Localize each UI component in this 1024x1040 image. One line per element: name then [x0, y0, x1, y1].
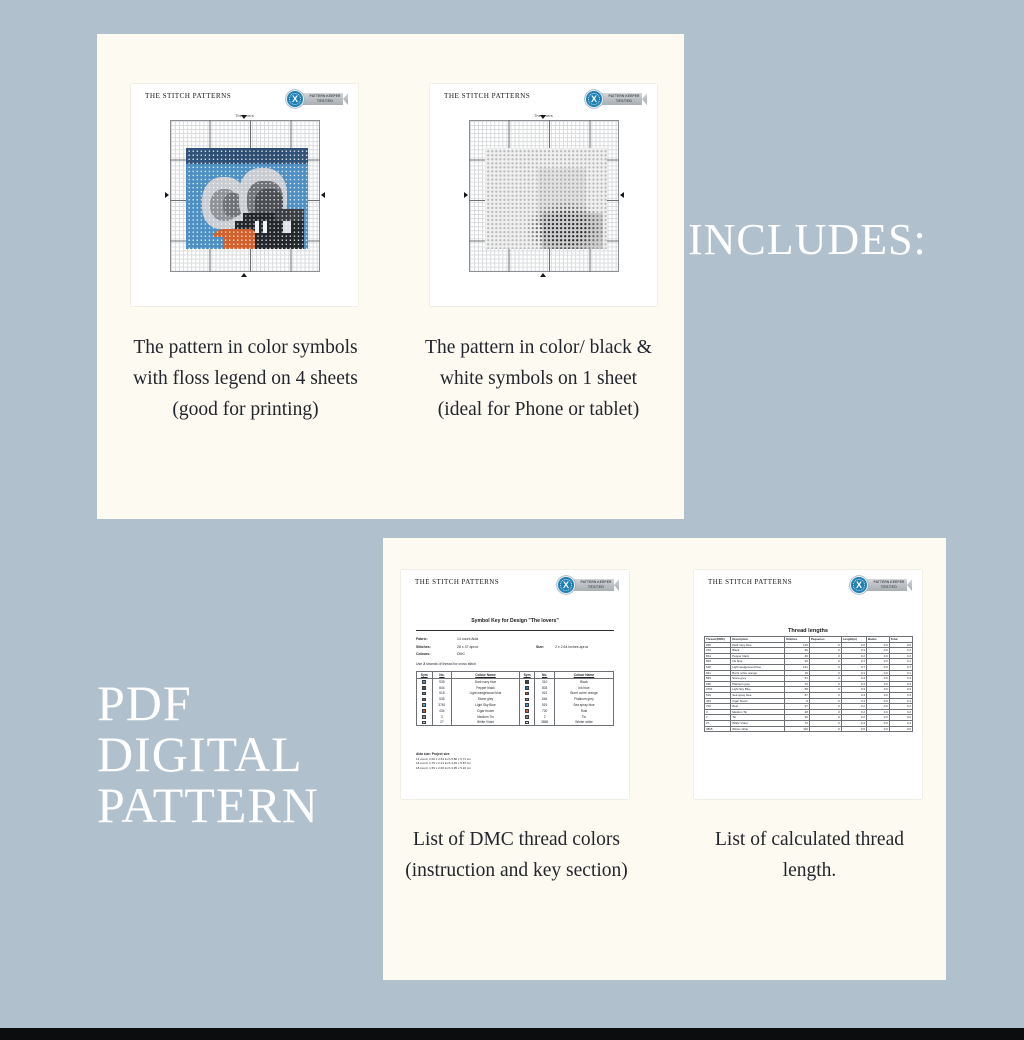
- thread-number: 3865: [705, 726, 731, 732]
- sheet-header: THE STITCH PATTERNS PATTERN KEEPER TESTE…: [131, 84, 358, 110]
- badge-line-1: PATTERN KEEPER: [868, 580, 910, 585]
- poster-canvas: THE STITCH PATTERNS PATTERN KEEPER TESTE…: [0, 0, 1024, 1040]
- meta-row: Colours:DMC: [416, 651, 615, 659]
- colour-name-a: White Violet: [452, 719, 520, 725]
- brand-wordmark: THE STITCH PATTERNS: [444, 92, 530, 100]
- pdf-line-1: PDF: [97, 678, 319, 729]
- includes-heading: INCLUDES:: [688, 214, 927, 265]
- meta-value-2: 2 x 2.64 inches aprox: [555, 644, 588, 652]
- pattern-keeper-badge: PATTERN KEEPER TESTED X: [557, 576, 619, 594]
- meta-label: Fabric:: [416, 636, 428, 644]
- center-marker-top-icon: [540, 115, 546, 119]
- meta-row: Stitches:28 x 37 aproxSize:2 x 2.64 inch…: [416, 644, 615, 652]
- meta-label: Stitches:: [416, 644, 431, 652]
- badge-text: PATTERN KEEPER TESTED: [868, 580, 910, 589]
- pdf-digital-pattern-heading: PDF DIGITAL PATTERN: [97, 678, 319, 831]
- meta-label-2: Size:: [536, 644, 544, 652]
- dmc-number-a: 27: [432, 719, 452, 725]
- thread-description: Winter white: [731, 726, 785, 732]
- aida-size-footer: Aida size: Project size 14 count: 2.00 x…: [416, 752, 471, 770]
- symbol-key-title: Symbol Key for Design "The lovers": [401, 618, 629, 624]
- strands-note: Use 2 strands of thread for cross stitch: [416, 662, 476, 666]
- badge-x-icon: X: [558, 577, 574, 593]
- caption-thread-length: List of calculated thread length.: [695, 824, 924, 886]
- column-header: No.: [432, 672, 452, 679]
- table-row: 27White Violet3865Winter white: [417, 719, 614, 725]
- badge-x-icon: X: [287, 91, 303, 107]
- center-marker-bottom-icon: [540, 273, 546, 277]
- pequenos-count: 0: [809, 726, 841, 732]
- colour-name-b: Winter white: [554, 719, 613, 725]
- column-header: Colour Name: [452, 672, 520, 679]
- center-marker-bottom-icon: [241, 273, 247, 277]
- thread-lengths-title: Thread lengths: [694, 628, 922, 634]
- meta-label: Colours:: [416, 651, 430, 659]
- meta-value: 14 count Aida: [457, 636, 478, 644]
- caption-dmc-list: List of DMC thread colors (instruction a…: [402, 824, 631, 886]
- stitches-count: 110: [785, 726, 810, 732]
- symbol-swatch-b: [519, 719, 535, 725]
- center-marker-top-icon: [241, 115, 247, 119]
- caption-color-symbols: The pattern in color symbols with floss …: [131, 332, 360, 425]
- dmc-number-b: 3865: [535, 719, 555, 725]
- column-header: Colour Name: [554, 672, 613, 679]
- symbol-key-meta: Fabric:14 count AidaStitches:28 x 37 apr…: [416, 636, 615, 659]
- sheet-header: THE STITCH PATTERNS PATTERN KEEPER TESTE…: [430, 84, 657, 110]
- center-marker-right-icon: [620, 192, 624, 198]
- pattern-keeper-badge: PATTERN KEEPER TESTED X: [286, 90, 348, 108]
- symbol-key-table: SymNo.Colour NameSymNo.Colour Name 939Da…: [416, 671, 614, 726]
- chart-artwork-bw: [485, 148, 607, 249]
- pdf-line-3: PATTERN: [97, 780, 319, 831]
- badge-line-1: PATTERN KEEPER: [304, 94, 346, 99]
- length-meters: 0.6: [841, 726, 866, 732]
- symbol-swatch-a: [417, 719, 433, 725]
- sheet-bw-symbol-chart[interactable]: THE STITCH PATTERNS PATTERN KEEPER TESTE…: [430, 84, 657, 306]
- center-marker-left-icon: [165, 192, 169, 198]
- badge-circle-icon: X: [286, 90, 304, 108]
- brand-wordmark: THE STITCH PATTERNS: [145, 92, 231, 100]
- sheet-header: THE STITCH PATTERNS PATTERN KEEPER TESTE…: [401, 570, 629, 596]
- total-value: 0.6: [889, 726, 912, 732]
- chart-grid-2: [469, 120, 619, 272]
- badge-line-2: TESTED: [575, 585, 617, 590]
- badge-line-2: TESTED: [304, 99, 346, 104]
- badge-text: PATTERN KEEPER TESTED: [603, 94, 645, 103]
- badge-line-2: TESTED: [603, 99, 645, 104]
- sheet-header: THE STITCH PATTERNS PATTERN KEEPER TESTE…: [694, 570, 922, 596]
- footer-title: Aida size: Project size: [416, 752, 449, 756]
- divider: [416, 630, 614, 631]
- footer-lines: 14 count: 2.00 x 2.64 inch 5.80 x 6.71 c…: [416, 757, 471, 771]
- thread-lengths-table: Thread (DMC)DescriptionStitchesPequenosL…: [704, 636, 913, 732]
- sheet-thread-lengths[interactable]: THE STITCH PATTERNS PATTERN KEEPER TESTE…: [694, 570, 922, 799]
- brand-wordmark: THE STITCH PATTERNS: [415, 578, 499, 586]
- badge-text: PATTERN KEEPER TESTED: [575, 580, 617, 589]
- pattern-keeper-badge: PATTERN KEEPER TESTED X: [850, 576, 912, 594]
- table-header-row: SymNo.Colour NameSymNo.Colour Name: [417, 672, 614, 679]
- brand-wordmark: THE STITCH PATTERNS: [708, 578, 792, 586]
- table-body: 939Dark navy blue310Black844Pepper black…: [417, 679, 614, 726]
- chart-grid-1: [170, 120, 320, 272]
- meta-value: 28 x 37 aprox: [457, 644, 478, 652]
- badge-x-icon: X: [851, 577, 867, 593]
- backs-value: 0.0: [867, 726, 890, 732]
- meta-row: Fabric:14 count Aida: [416, 636, 615, 644]
- chart-artwork-color: [186, 148, 308, 249]
- badge-x-icon: X: [586, 91, 602, 107]
- column-header: Sym: [519, 672, 535, 679]
- note-suffix: strands of thread for cross stitch: [425, 662, 476, 666]
- sheet-symbol-key[interactable]: THE STITCH PATTERNS PATTERN KEEPER TESTE…: [401, 570, 629, 799]
- center-marker-left-icon: [464, 192, 468, 198]
- sheet-color-symbol-chart[interactable]: THE STITCH PATTERNS PATTERN KEEPER TESTE…: [131, 84, 358, 306]
- badge-circle-icon: X: [850, 576, 868, 594]
- center-marker-right-icon: [321, 192, 325, 198]
- pdf-line-2: DIGITAL: [97, 729, 319, 780]
- table-row: 3865Winter white11000.60.00.6: [705, 726, 913, 732]
- bottom-edge-bar: [0, 1028, 1024, 1040]
- column-header: Sym: [417, 672, 433, 679]
- badge-text: PATTERN KEEPER TESTED: [304, 94, 346, 103]
- caption-bw-symbols: The pattern in color/ black & white symb…: [424, 332, 653, 425]
- badge-line-1: PATTERN KEEPER: [575, 580, 617, 585]
- footer-line: 18 count: 1.56 x 2.06 inch 3.95 x 5.22 c…: [416, 766, 471, 771]
- badge-line-1: PATTERN KEEPER: [603, 94, 645, 99]
- meta-value: DMC: [457, 651, 465, 659]
- badge-line-2: TESTED: [868, 585, 910, 590]
- badge-circle-icon: X: [585, 90, 603, 108]
- pattern-keeper-badge: PATTERN KEEPER TESTED X: [585, 90, 647, 108]
- badge-circle-icon: X: [557, 576, 575, 594]
- table-body: 939Dark navy blue12500.60.00.6310Black66…: [705, 642, 913, 732]
- column-header: No.: [535, 672, 555, 679]
